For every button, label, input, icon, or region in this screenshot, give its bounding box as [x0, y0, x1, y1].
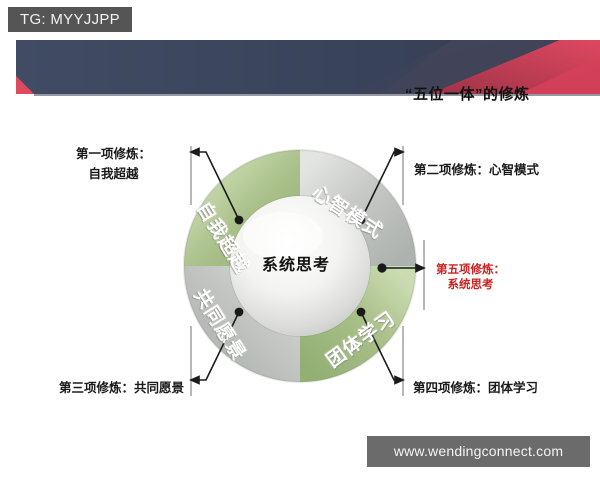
- page-title: “五位一体”的修炼: [405, 83, 530, 104]
- arrowhead-three: [191, 377, 199, 384]
- core-label: 系统思考: [262, 251, 330, 275]
- callout-five-line2: 系统思考: [436, 278, 505, 293]
- site-watermark: www.wendingconnect.com: [367, 436, 590, 467]
- leader-dot-one: [235, 216, 242, 223]
- callout-label-one: 第一项修炼： 自我超越: [76, 144, 151, 184]
- arrowhead-five: [416, 265, 424, 272]
- screenshot-root: TG: MYYJJPP: [0, 0, 600, 480]
- callout-label-two: 第二项修炼：心智模式: [414, 160, 539, 180]
- leader-dot-five: [378, 264, 386, 272]
- callout-one-line1: 第一项修炼：: [76, 144, 151, 164]
- arrowhead-one: [191, 149, 199, 156]
- leader-dot-two: [357, 216, 364, 223]
- callout-one-line2: 自我超越: [76, 164, 151, 184]
- callout-label-four: 第四项修炼：团体学习: [413, 378, 538, 398]
- arrowhead-four: [395, 377, 403, 384]
- arrowhead-two: [395, 149, 403, 156]
- leader-dot-four: [357, 308, 364, 315]
- leader-dot-three: [235, 308, 242, 315]
- callout-five-line1: 第五项修炼：: [436, 263, 505, 278]
- tg-badge: TG: MYYJJPP: [8, 7, 132, 32]
- callout-label-three: 第三项修炼：共同愿景: [59, 378, 184, 398]
- callout-label-five: 第五项修炼： 系统思考: [436, 263, 505, 293]
